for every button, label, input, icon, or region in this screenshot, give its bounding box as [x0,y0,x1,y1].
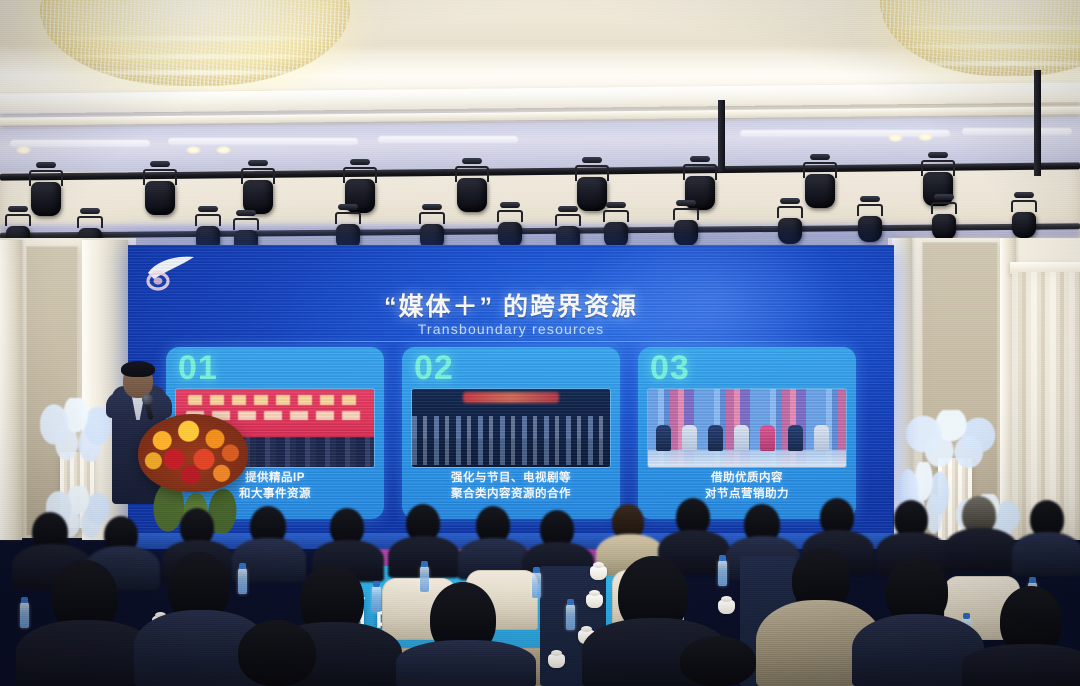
audience-shoulders [962,644,1080,686]
audience-head [238,620,316,686]
audience-front-row [0,0,1080,686]
conference-hall-photo: “媒体＋” 的跨界资源 Transboundary resources 01 提… [0,0,1080,686]
audience-head [680,636,756,686]
audience-shoulders [396,640,536,686]
